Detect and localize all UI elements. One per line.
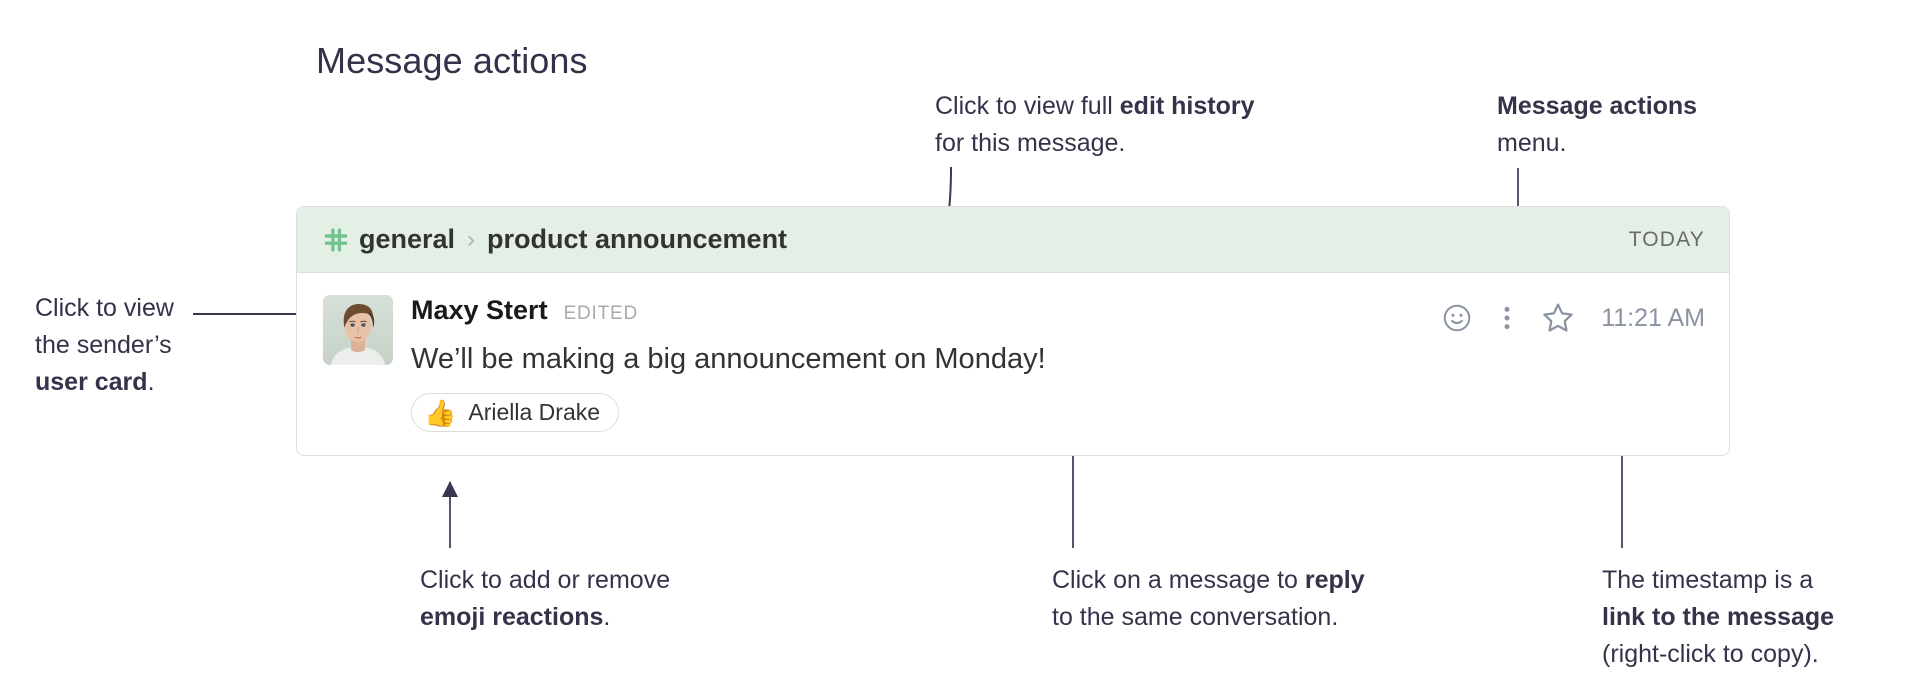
annotation-timestamp-suffix: (right-click to copy). xyxy=(1602,640,1819,668)
annotation-reply: Click on a message to reply to the same … xyxy=(1052,562,1365,636)
annotation-emoji-prefix: Click to add or remove xyxy=(420,566,670,594)
message-card: general › product announcement TODAY xyxy=(296,206,1730,456)
message-actions-icon[interactable] xyxy=(1495,302,1519,334)
annotation-reply-bold: reply xyxy=(1305,566,1365,594)
annotation-emoji-bold: emoji reactions xyxy=(420,603,603,631)
recipient-bar[interactable]: general › product announcement TODAY xyxy=(297,207,1729,273)
hash-icon xyxy=(323,227,349,253)
reaction-chip[interactable]: 👍 Ariella Drake xyxy=(411,393,619,432)
message-actions: 11:21 AM xyxy=(1441,301,1705,335)
annotation-user-card-suffix: . xyxy=(148,368,155,396)
annotation-user-card-prefix: Click to view the sender’s xyxy=(35,294,174,359)
emoji-reaction-icon[interactable] xyxy=(1441,302,1473,334)
annotation-edit-history: Click to view full edit history for this… xyxy=(935,88,1255,162)
annotation-actions-menu-suffix: menu. xyxy=(1497,129,1566,157)
reaction-row: 👍 Ariella Drake xyxy=(411,393,1705,432)
thumbs-up-icon: 👍 xyxy=(424,400,456,426)
annotation-reply-suffix: to the same conversation. xyxy=(1052,603,1338,631)
breadcrumb-separator-icon: › xyxy=(467,226,475,254)
message-body[interactable]: We’ll be making a big announcement on Mo… xyxy=(411,339,1705,379)
annotation-user-card: Click to view the sender’s user card. xyxy=(35,290,174,401)
star-icon[interactable] xyxy=(1541,301,1575,335)
annotation-actions-menu-bold: Message actions xyxy=(1497,92,1697,120)
message-row[interactable]: Maxy Stert EDITED We’ll be making a big … xyxy=(297,273,1729,432)
topic-name[interactable]: product announcement xyxy=(487,224,787,255)
avatar[interactable] xyxy=(323,295,393,365)
reaction-user: Ariella Drake xyxy=(468,399,600,426)
annotation-timestamp-link: The timestamp is a link to the message (… xyxy=(1602,562,1834,673)
date-label: TODAY xyxy=(1629,228,1705,252)
annotation-emoji-reactions: Click to add or remove emoji reactions. xyxy=(420,562,670,636)
annotation-actions-menu: Message actions menu. xyxy=(1497,88,1697,162)
sender-name[interactable]: Maxy Stert xyxy=(411,295,548,326)
edited-badge[interactable]: EDITED xyxy=(564,303,638,325)
annotation-edit-history-prefix: Click to view full xyxy=(935,92,1120,120)
annotation-edit-history-bold: edit history xyxy=(1120,92,1255,120)
annotation-timestamp-bold: link to the message xyxy=(1602,603,1834,631)
annotation-edit-history-suffix: for this message. xyxy=(935,129,1125,157)
message-timestamp[interactable]: 11:21 AM xyxy=(1601,304,1705,333)
annotation-user-card-bold: user card xyxy=(35,368,148,396)
annotation-emoji-suffix: . xyxy=(603,603,610,631)
stream-name[interactable]: general xyxy=(359,224,455,255)
annotation-timestamp-prefix: The timestamp is a xyxy=(1602,566,1813,594)
page-title: Message actions xyxy=(316,40,588,82)
annotation-reply-prefix: Click on a message to xyxy=(1052,566,1305,594)
